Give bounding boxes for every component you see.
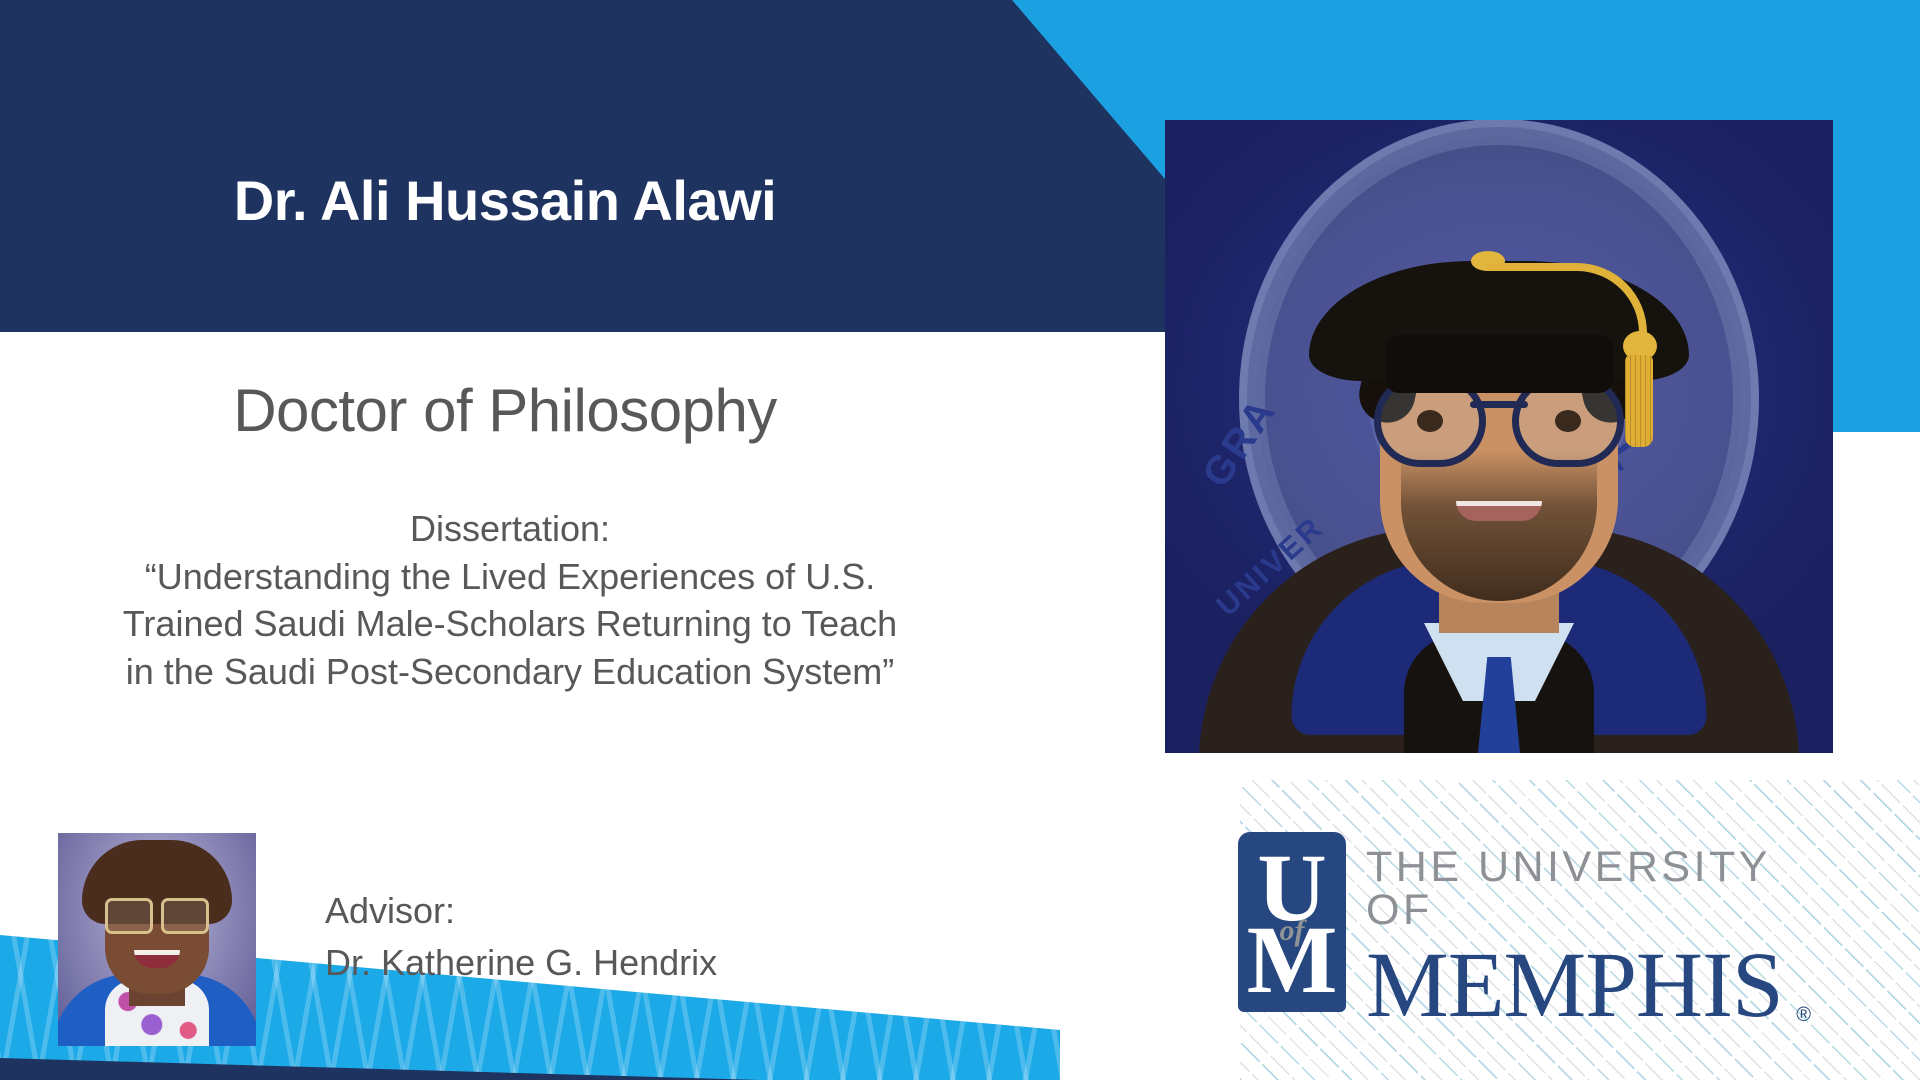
- advisor-portrait-photo: [58, 833, 256, 1046]
- dissertation-block: Dissertation: “Understanding the Lived E…: [0, 505, 1020, 695]
- uofm-wordmark: THE UNIVERSITY OF MEMPHIS ®: [1366, 846, 1788, 1031]
- eye-left: [1417, 410, 1443, 432]
- mouth: [1456, 501, 1542, 521]
- uofm-wordmark-line-2: MEMPHIS ®: [1366, 940, 1788, 1031]
- dissertation-title-line-3: in the Saudi Post-Secondary Education Sy…: [0, 648, 1020, 696]
- advisor-block: Advisor: Dr. Katherine G. Hendrix: [325, 885, 717, 989]
- gold-tassel: [1625, 355, 1653, 447]
- glasses-bridge: [1470, 401, 1528, 408]
- eye-right: [1555, 410, 1581, 432]
- advisor-lens-right: [161, 898, 209, 934]
- page-title: Dr. Ali Hussain Alawi: [0, 168, 1010, 233]
- advisor-name: Dr. Katherine G. Hendrix: [325, 937, 717, 989]
- uofm-monogram-mark: U of M: [1238, 832, 1346, 1012]
- dissertation-label: Dissertation:: [0, 505, 1020, 553]
- uofm-memphis-text: MEMPHIS: [1366, 934, 1783, 1037]
- dissertation-title-line-1: “Understanding the Lived Experiences of …: [0, 553, 1020, 601]
- advisor-eyeglasses-icon: [105, 898, 209, 928]
- advisor-lens-left: [105, 898, 153, 934]
- registered-trademark-icon: ®: [1796, 1006, 1810, 1026]
- degree-heading: Doctor of Philosophy: [0, 376, 1010, 445]
- monogram-m: M: [1238, 912, 1346, 1008]
- uofm-wordmark-line-1: THE UNIVERSITY OF: [1366, 846, 1788, 932]
- dissertation-title-line-2: Trained Saudi Male-Scholars Returning to…: [0, 600, 1020, 648]
- tassel-cord: [1489, 263, 1647, 335]
- tam-band: [1385, 335, 1613, 393]
- university-of-memphis-logo: U of M THE UNIVERSITY OF MEMPHIS ®: [1238, 832, 1788, 1012]
- graduation-slide: GRA OL UNIVER MPHIS: [0, 0, 1920, 1080]
- graduate-portrait-photo: GRA OL UNIVER MPHIS: [1165, 120, 1833, 753]
- advisor-label: Advisor:: [325, 885, 717, 937]
- graduate-figure: [1165, 120, 1833, 753]
